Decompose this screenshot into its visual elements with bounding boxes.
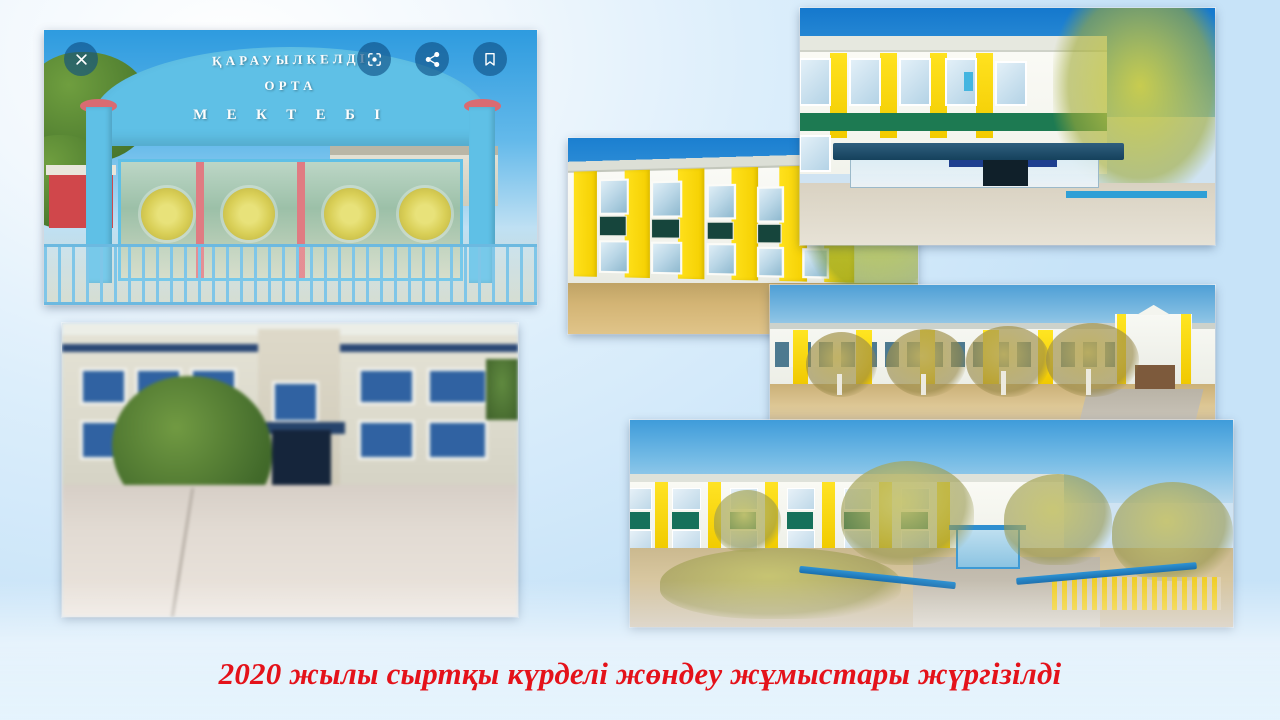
- tree: [1004, 474, 1113, 565]
- bookmark-icon[interactable]: [473, 42, 507, 76]
- yellow-stripe: [822, 482, 835, 550]
- window: [787, 488, 815, 510]
- photo-entrance[interactable]: [800, 8, 1215, 245]
- panorama-scene: [770, 285, 1215, 433]
- green-panel: [787, 512, 813, 529]
- tree-trunk: [837, 374, 842, 395]
- photo-school-gate[interactable]: ҚАРАУЫЛКЕЛДІ ОРТА М Е К Т Е Б І: [44, 30, 537, 305]
- window: [427, 368, 488, 405]
- share-icon[interactable]: [415, 42, 449, 76]
- gate-scene: ҚАРАУЫЛКЕЛДІ ОРТА М Е К Т Е Б І: [44, 30, 537, 305]
- close-icon[interactable]: [64, 42, 98, 76]
- window: [706, 183, 735, 220]
- window: [849, 58, 881, 106]
- tree-trunk: [1086, 369, 1091, 394]
- flag: [964, 72, 973, 91]
- slide-caption: 2020 жылы сыртқы күрделі жөндеу жұмыстар…: [0, 656, 1280, 692]
- green-panel: [672, 512, 698, 529]
- bush-row: [660, 548, 901, 618]
- lens-icon[interactable]: [357, 42, 391, 76]
- slide-canvas: ҚАРАУЫЛКЕЛДІ ОРТА М Е К Т Е Б І: [0, 0, 1280, 720]
- yard-scene: [630, 420, 1233, 627]
- railing: [1066, 191, 1207, 198]
- window: [899, 58, 931, 106]
- green-panel: [651, 218, 680, 238]
- photo-yard[interactable]: [630, 420, 1233, 627]
- tree: [841, 461, 974, 565]
- gate-ornament: [324, 188, 376, 240]
- window: [757, 246, 784, 278]
- tree: [714, 490, 780, 552]
- tree-trunk: [1001, 371, 1006, 395]
- window: [800, 135, 831, 172]
- window: [358, 368, 414, 405]
- yellow-stripe: [1181, 314, 1190, 386]
- window: [651, 241, 683, 274]
- window: [630, 488, 652, 510]
- window: [995, 61, 1027, 106]
- ground: [62, 485, 518, 617]
- photo-panorama[interactable]: [770, 285, 1215, 433]
- gate-ornament: [223, 188, 275, 240]
- window: [757, 186, 784, 222]
- green-panel: [599, 216, 627, 237]
- garage-door: [1135, 365, 1175, 389]
- fence: [1052, 577, 1221, 610]
- window: [672, 488, 700, 510]
- yellow-stripe: [573, 171, 597, 276]
- window: [427, 420, 488, 460]
- green-panel: [706, 221, 733, 240]
- gate-ornament: [399, 188, 451, 240]
- green-panel: [630, 512, 650, 529]
- window: [599, 239, 629, 273]
- window: [358, 420, 414, 460]
- green-panel: [757, 223, 782, 242]
- gate-ornament: [141, 188, 193, 240]
- yellow-stripe: [655, 482, 668, 550]
- window: [599, 178, 629, 214]
- gate-sign-line3: М Е К Т Е Б І: [44, 107, 537, 124]
- entry-door: [983, 160, 1029, 186]
- window: [706, 243, 735, 276]
- side-foliage: [486, 359, 518, 420]
- window: [80, 368, 127, 405]
- window: [800, 58, 831, 106]
- window: [272, 381, 319, 424]
- entry-door: [272, 430, 331, 488]
- window: [651, 180, 683, 217]
- fence: [44, 244, 537, 305]
- gate-sign-line2: ОРТА: [44, 78, 537, 94]
- roofline: [630, 474, 1064, 482]
- canopy: [833, 143, 1124, 160]
- entrance-scene: [800, 8, 1215, 245]
- photo-old-building[interactable]: [62, 323, 518, 617]
- tree-trunk: [921, 374, 926, 395]
- old-building-scene: [62, 323, 518, 617]
